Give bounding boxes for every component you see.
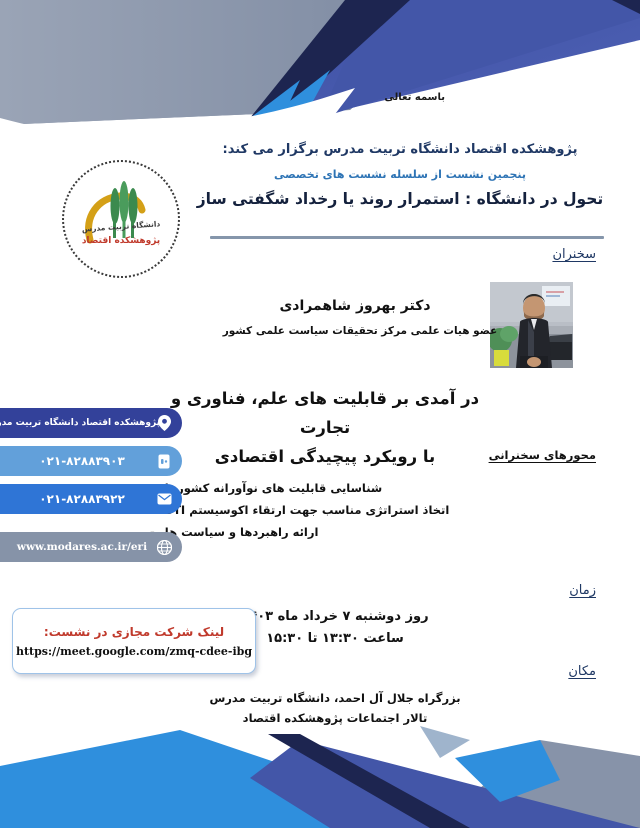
bismillah-text: باسمه تعالی [384, 92, 445, 103]
section-heading-speaker: سخنران [552, 247, 596, 262]
page-title: تحول در دانشگاه : استمرار روند یا رخداد … [196, 190, 604, 208]
university-logo: دانشگاه تربیت مدرس پژوهشکده اقتصاد [62, 160, 180, 278]
poster-canvas: دانشگاه تربیت مدرس پژوهشکده اقتصاد باسمه… [0, 0, 640, 828]
contact-address-label: پژوهشکده اقتصاد دانشگاه تربیت مدرس [0, 418, 182, 428]
section-heading-time: زمان [569, 583, 596, 598]
contact-address: پژوهشکده اقتصاد دانشگاه تربیت مدرس [0, 408, 182, 438]
topic-text: اتخاذ استراتژی مناسب جهت ارتقاء اکوسیستم… [165, 502, 450, 520]
envelope-icon [156, 491, 172, 507]
topics-list: شناسایی قابلیت های نوآورانه کشورها - اتخ… [150, 478, 640, 543]
speaker-name: دکتر بهروز شاهمرادی [230, 298, 480, 314]
virtual-meeting-box[interactable]: لینک شرکت مجازی در نشست: https://meet.go… [12, 608, 256, 674]
bottom-decoration [0, 718, 640, 828]
list-item: اتخاذ استراتژی مناسب جهت ارتقاء اکوسیستم… [150, 500, 640, 522]
top-decoration-overlay [0, 0, 640, 160]
contact-phone: ۰۲۱-۸۲۸۸۳۹۰۳ [0, 446, 182, 476]
series-line: پنجمین نشست از سلسله نشست های تخصصی [196, 168, 604, 181]
phone-icon [156, 453, 172, 469]
section-heading-topics: محورهای سخنرانی [150, 448, 596, 462]
place-line-2: تالار اجتماعات پژوهشکده اقتصاد [170, 708, 500, 728]
contact-fax: ۰۲۱-۸۲۸۸۳۹۲۲ [0, 484, 182, 514]
speaker-affiliation: عضو هیات علمی مرکز تحقیقات سیاست علمی کش… [210, 325, 510, 337]
place-line-1: بزرگراه جلال آل احمد، دانشگاه تربیت مدرس [170, 688, 500, 708]
top-decoration [0, 0, 640, 150]
contact-website[interactable]: www.modares.ac.ir/eri [0, 532, 182, 562]
globe-icon [156, 539, 172, 555]
section-heading-place: مکان [568, 664, 596, 679]
list-item: شناسایی قابلیت های نوآورانه کشورها - [150, 478, 640, 500]
lecture-title-line-1: در آمدی بر قابلیت های علم، فناوری و تجار… [160, 385, 490, 443]
host-line: پژوهشکده اقتصاد دانشگاه تربیت مدرس برگزا… [196, 140, 604, 160]
list-item: ارائه راهبردها و سیاست ها - [150, 522, 640, 544]
logo-institute-text: پژوهشکده اقتصاد [62, 236, 180, 246]
virtual-meeting-title: لینک شرکت مجازی در نشست: [44, 625, 224, 639]
header-divider [210, 236, 604, 239]
event-place: بزرگراه جلال آل احمد، دانشگاه تربیت مدرس… [170, 688, 500, 728]
location-pin-icon [156, 415, 172, 431]
topic-text: ارائه راهبردها و سیاست ها [165, 524, 319, 542]
topic-text: شناسایی قابلیت های نوآورانه کشورها [165, 480, 382, 498]
virtual-meeting-url[interactable]: https://meet.google.com/zmq-cdee-ibg [16, 645, 252, 658]
